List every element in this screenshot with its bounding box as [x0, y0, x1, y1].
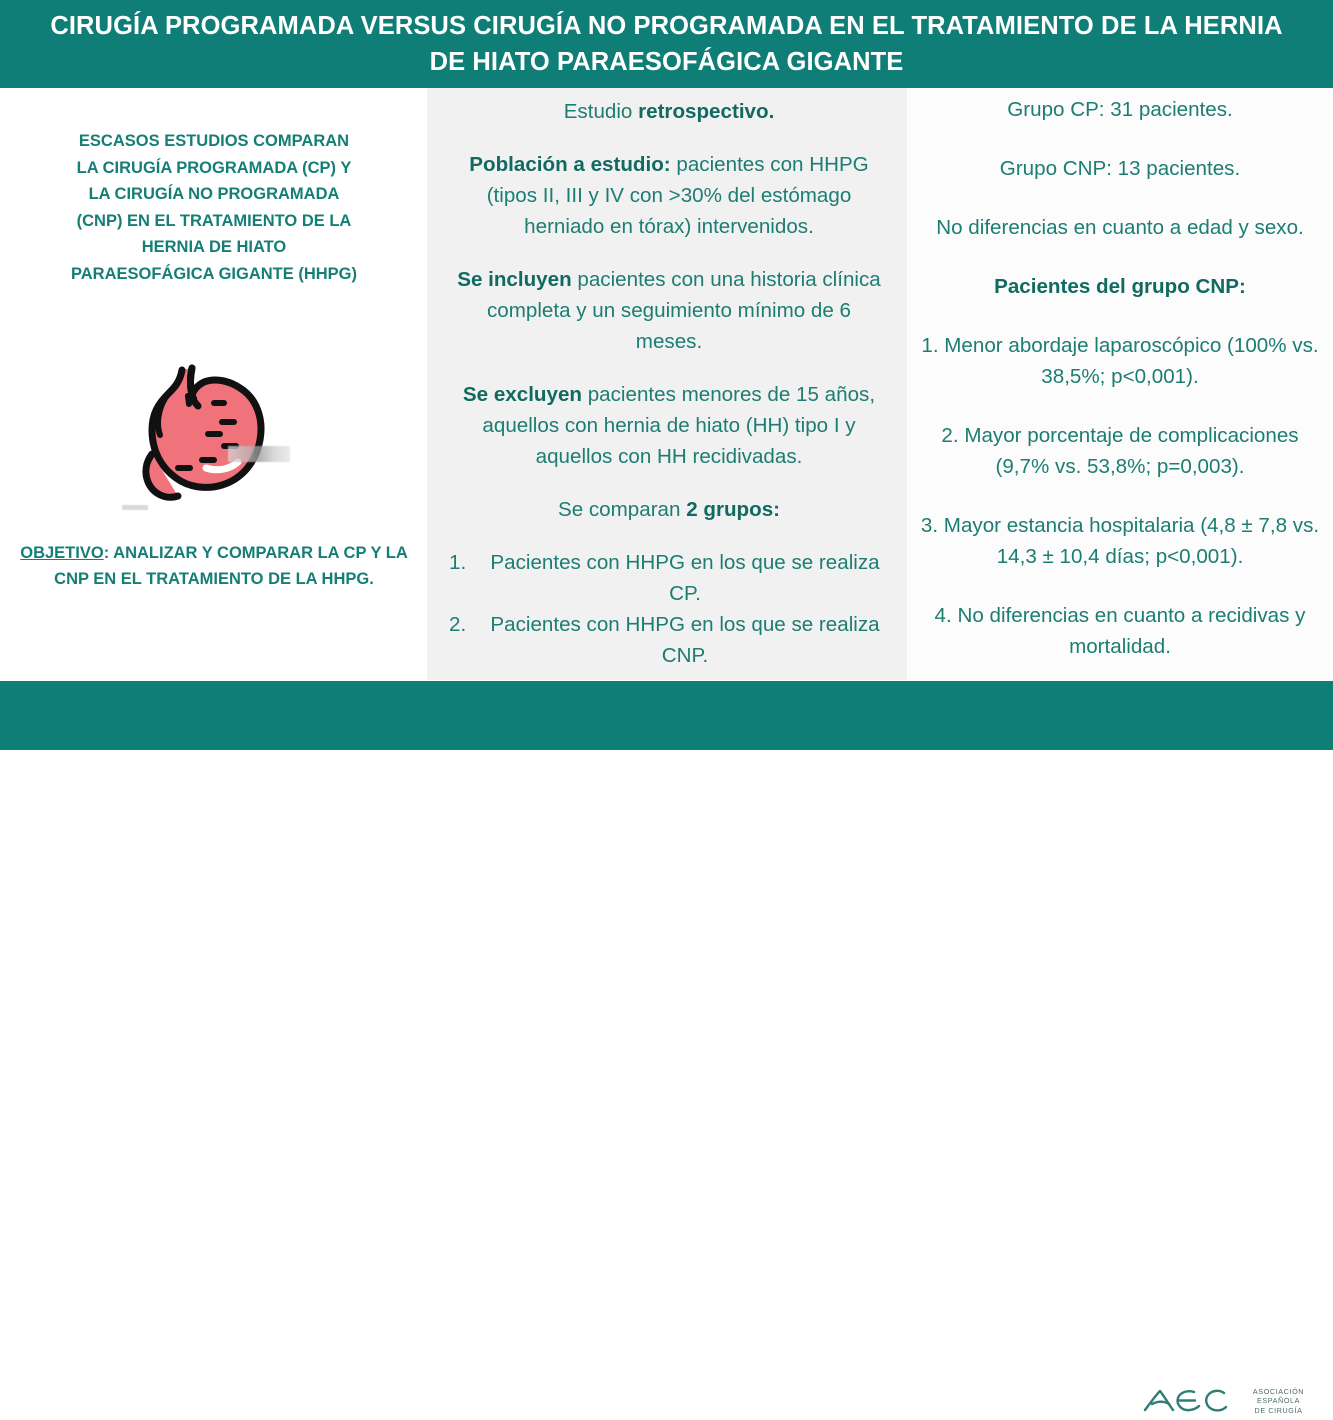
stomach-illustration — [110, 356, 320, 526]
list-item: 2. Mayor porcentaje de complicaciones (9… — [912, 420, 1328, 482]
list-item-label: Pacientes con HHPG en los que se realiza… — [455, 609, 883, 671]
body-area: ESCASOS ESTUDIOS COMPARAN LA CIRUGÍA PRO… — [0, 88, 1333, 680]
study-type-line: Estudio retrospectivo. — [455, 96, 883, 127]
no-differences-age-sex: No diferencias en cuanto a edad y sexo. — [912, 212, 1328, 243]
aec-logo-text: ASOCIACIÓN ESPAÑOLA DE CIRUGÍA — [1235, 1387, 1322, 1416]
population-label: Población a estudio: — [469, 153, 670, 176]
study-type-value: retrospectivo. — [638, 100, 774, 123]
header-bar: CIRUGÍA PROGRAMADA VERSUS CIRUGÍA NO PRO… — [0, 0, 1333, 88]
page-title: CIRUGÍA PROGRAMADA VERSUS CIRUGÍA NO PRO… — [22, 8, 1312, 80]
footer-bar: ASOCIACIÓN ESPAÑOLA DE CIRUGÍA — [0, 681, 1333, 750]
list-item-number: 1. — [449, 547, 466, 578]
groups-intro-line: Se comparan 2 grupos: — [455, 494, 883, 525]
group-cnp-count: Grupo CNP: 13 pacientes. — [912, 153, 1328, 184]
cnp-group-heading: Pacientes del grupo CNP: — [912, 271, 1328, 302]
group-cp-count: Grupo CP: 31 pacientes. — [912, 94, 1328, 125]
aec-logo-line2: DE CIRUGÍA — [1235, 1406, 1322, 1416]
findings-list: 1. Menor abordaje laparoscópico (100% vs… — [912, 330, 1328, 662]
population-line: Población a estudio: pacientes con HHPG … — [455, 149, 883, 242]
left-column-heading: ESCASOS ESTUDIOS COMPARAN LA CIRUGÍA PRO… — [68, 128, 360, 288]
objective-text: OBJETIVO: ANALIZAR Y COMPARAR LA CP Y LA… — [18, 540, 410, 593]
list-item: 4. No diferencias en cuanto a recidivas … — [912, 600, 1328, 662]
groups-intro-prefix: Se comparan — [558, 498, 686, 521]
inclusion-line: Se incluyen pacientes con una historia c… — [455, 264, 883, 357]
list-item: 1. Menor abordaje laparoscópico (100% vs… — [912, 330, 1328, 392]
list-item: 3. Mayor estancia hospitalaria (4,8 ± 7,… — [912, 510, 1328, 572]
list-item: 2. Pacientes con HHPG en los que se real… — [455, 609, 883, 671]
watermark-bar — [228, 446, 290, 462]
aec-logo-mark — [1142, 1388, 1228, 1414]
groups-list: 1. Pacientes con HHPG en los que se real… — [455, 547, 883, 671]
list-item: 1. Pacientes con HHPG en los que se real… — [455, 547, 883, 609]
middle-column-content: Estudio retrospectivo. Población a estud… — [455, 96, 883, 671]
exclusion-line: Se excluyen pacientes menores de 15 años… — [455, 379, 883, 472]
exclusion-label: Se excluyen — [463, 383, 582, 406]
list-item-number: 2. — [449, 609, 466, 640]
right-column-content: Grupo CP: 31 pacientes. Grupo CNP: 13 pa… — [912, 94, 1328, 662]
aec-logo: ASOCIACIÓN ESPAÑOLA DE CIRUGÍA — [1134, 1382, 1322, 1420]
cnp-group-heading-label: Pacientes del grupo CNP: — [994, 275, 1246, 298]
left-column: ESCASOS ESTUDIOS COMPARAN LA CIRUGÍA PRO… — [0, 88, 427, 680]
study-type-prefix: Estudio — [564, 100, 638, 123]
poster-slide: CIRUGÍA PROGRAMADA VERSUS CIRUGÍA NO PRO… — [0, 0, 1333, 750]
aec-logo-line1: ASOCIACIÓN ESPAÑOLA — [1235, 1387, 1322, 1406]
stomach-icon — [110, 356, 320, 526]
objective-body: : ANALIZAR Y COMPARAR LA CP Y LA CNP EN … — [54, 544, 408, 588]
inclusion-label: Se incluyen — [457, 268, 571, 291]
list-item-label: Pacientes con HHPG en los que se realiza… — [455, 547, 883, 609]
watermark-dash — [122, 505, 148, 510]
objective-label: OBJETIVO — [20, 544, 103, 562]
groups-intro-value: 2 grupos: — [686, 498, 780, 521]
